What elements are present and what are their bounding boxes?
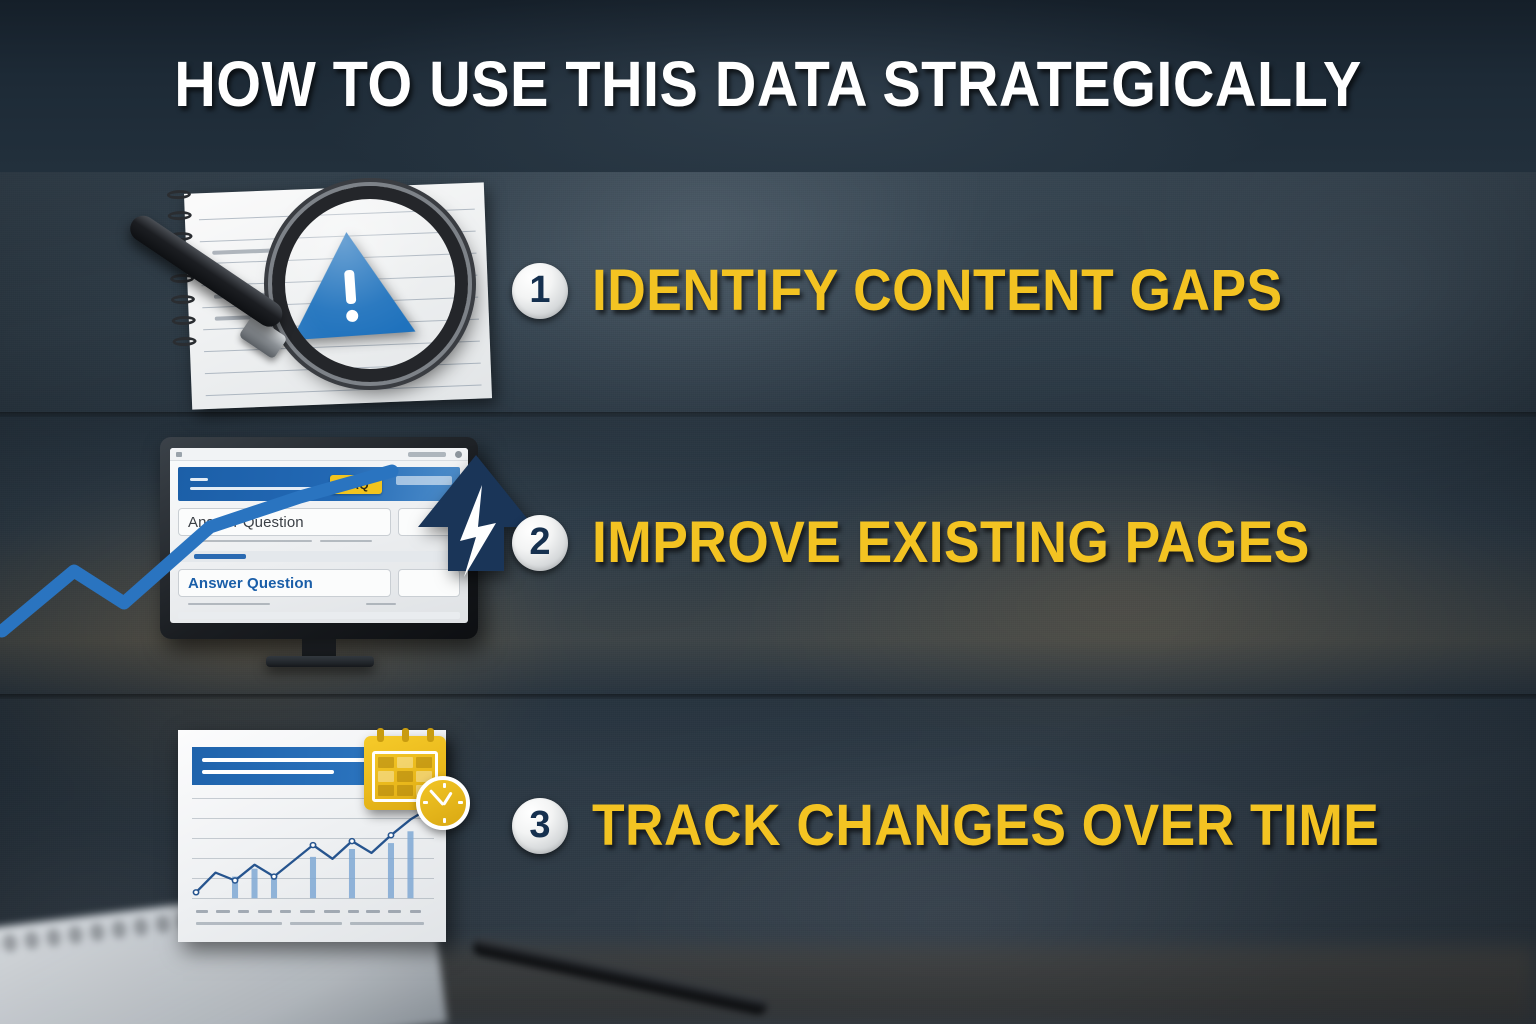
step-3-badge: 3 xyxy=(512,798,568,854)
divider-2 xyxy=(0,694,1536,699)
monitor-base xyxy=(266,656,374,667)
step-3: 3 TRACK CHANGES OVER TIME xyxy=(512,797,1448,855)
step-2-badge: 2 xyxy=(512,515,568,571)
trend-chart xyxy=(192,796,434,902)
artwork-track-changes-over-time xyxy=(178,730,478,970)
divider-1 xyxy=(0,412,1536,417)
clock-icon xyxy=(416,776,470,830)
step-1-label: IDENTIFY CONTENT GAPS xyxy=(592,262,1283,320)
step-3-label: TRACK CHANGES OVER TIME xyxy=(592,797,1379,855)
blue-zigzag-trend-line xyxy=(0,463,420,653)
step-1: 1 IDENTIFY CONTENT GAPS xyxy=(512,262,1343,320)
infographic-poster: HOW TO USE THIS DATA STRATEGICALLY xyxy=(0,0,1536,1024)
magnifying-glass-icon xyxy=(272,186,468,382)
page-title: HOW TO USE THIS DATA STRATEGICALLY xyxy=(77,52,1459,116)
step-1-badge: 1 xyxy=(512,263,568,319)
step-2: 2 IMPROVE EXISTING PAGES xyxy=(512,514,1372,572)
artwork-identify-content-gaps xyxy=(96,180,516,412)
step-2-label: IMPROVE EXISTING PAGES xyxy=(592,514,1310,572)
